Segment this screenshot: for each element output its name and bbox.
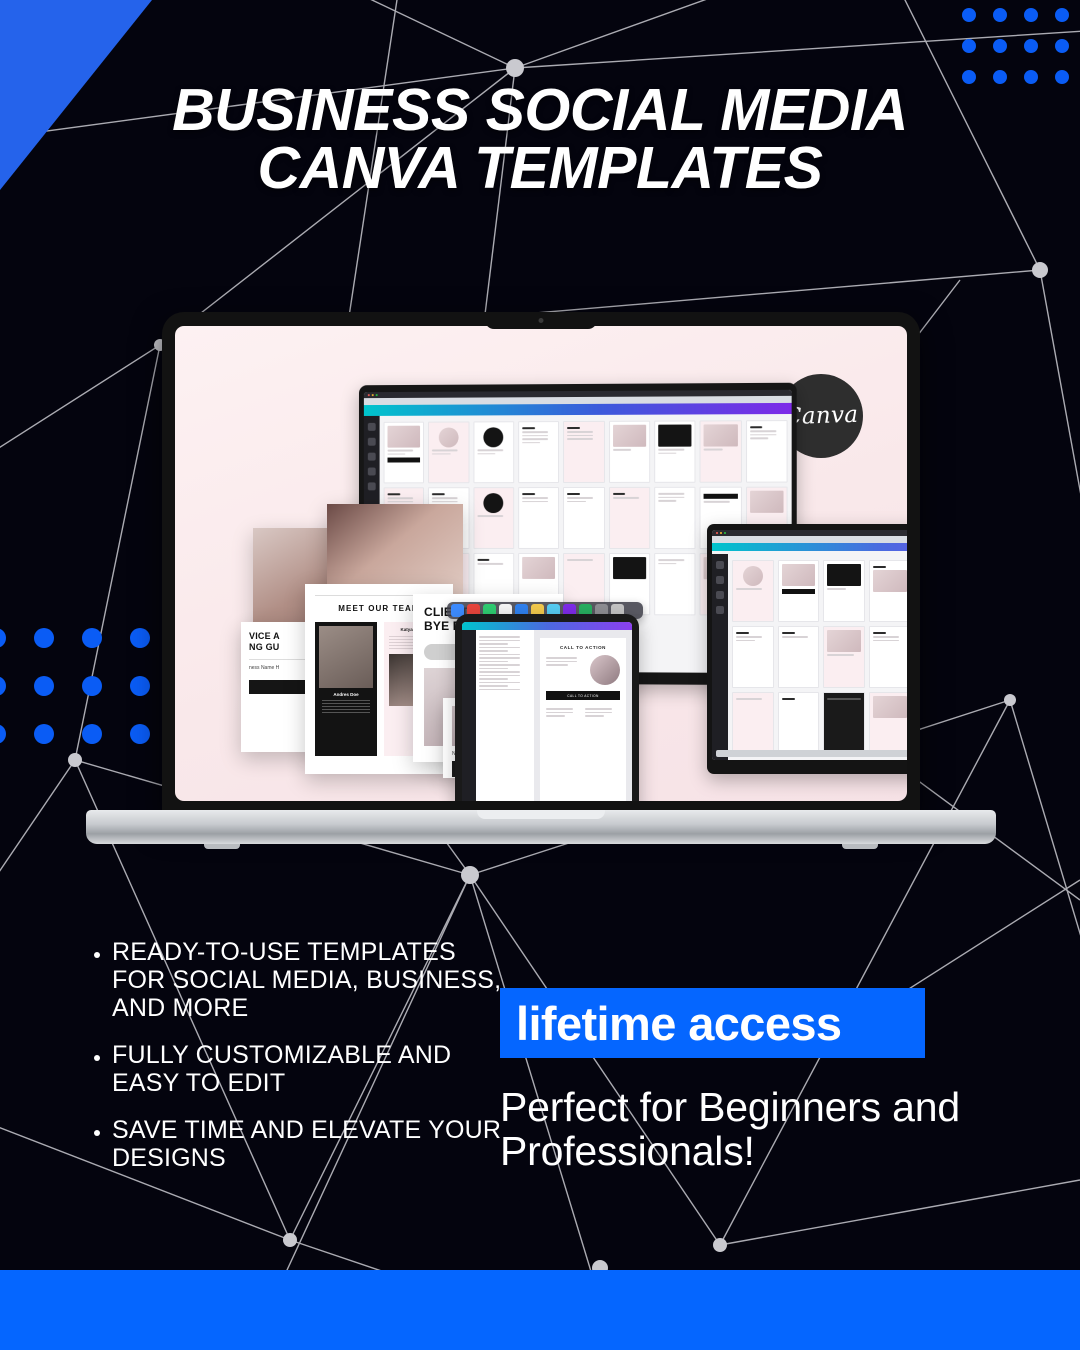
laptop-trim <box>716 750 907 757</box>
template-card <box>609 487 650 549</box>
team-member-primary: Andres Doe <box>315 622 377 756</box>
template-grid <box>730 556 907 760</box>
feature-list: READY-TO-USE TEMPLATES FOR SOCIAL MEDIA,… <box>82 938 502 1191</box>
tablet-page-button: CALL TO ACTION <box>567 694 598 698</box>
lifetime-access-chip: lifetime access <box>500 988 925 1058</box>
tablet-sidebar <box>462 630 476 801</box>
template-card <box>778 692 820 754</box>
canva-editor-viewport-secondary <box>712 530 907 760</box>
template-card <box>654 420 696 482</box>
template-card <box>732 626 774 688</box>
tablet-viewport: CALL TO ACTION CALL TO ACTION <box>462 622 632 801</box>
template-card <box>700 420 742 482</box>
promo-poster: BUSINESS SOCIAL MEDIA CANVA TEMPLATES Ca… <box>0 0 1080 1350</box>
template-card <box>654 487 696 549</box>
template-row <box>732 692 907 754</box>
template-card <box>609 421 650 483</box>
canva-toolbar <box>364 403 792 416</box>
tablet-page-heading: CALL TO ACTION <box>546 645 620 650</box>
laptop-screen: Canva <box>175 326 907 801</box>
laptop-lid: Canva <box>162 312 920 817</box>
browser-tabbar <box>712 536 907 543</box>
page-title: BUSINESS SOCIAL MEDIA CANVA TEMPLATES <box>0 82 1080 198</box>
template-card <box>563 421 604 483</box>
template-card <box>869 626 907 688</box>
bottom-accent-band <box>0 1270 1080 1350</box>
template-card <box>384 422 425 484</box>
lifetime-access-label: lifetime access <box>516 996 841 1051</box>
template-card <box>473 421 514 483</box>
canva-sidebar <box>712 554 728 760</box>
laptop-foot <box>204 844 240 849</box>
template-card <box>563 487 604 549</box>
template-card <box>746 420 788 483</box>
headline-line-2: CANVA TEMPLATES <box>60 140 1020 198</box>
template-card <box>869 692 907 754</box>
team-member-name: Andres Doe <box>319 692 373 697</box>
team-member-photo <box>319 626 373 688</box>
template-card <box>732 560 774 622</box>
canva-toolbar <box>712 543 907 551</box>
webcam-icon <box>539 318 544 323</box>
canva-editor-tablet: CALL TO ACTION CALL TO ACTION <box>455 614 639 801</box>
tablet-font-list <box>476 630 534 801</box>
template-row <box>732 626 907 688</box>
tablet-canvas: CALL TO ACTION CALL TO ACTION <box>534 630 632 801</box>
template-row <box>732 560 907 622</box>
laptop-foot <box>842 844 878 849</box>
template-card <box>428 421 469 483</box>
template-card <box>518 421 559 483</box>
template-card <box>778 560 820 622</box>
list-item: FULLY CUSTOMIZABLE AND EASY TO EDIT <box>112 1041 502 1097</box>
headline-line-1: BUSINESS SOCIAL MEDIA <box>60 82 1020 140</box>
template-card <box>869 560 907 622</box>
template-card <box>823 692 865 754</box>
list-item: READY-TO-USE TEMPLATES FOR SOCIAL MEDIA,… <box>112 938 502 1022</box>
cta-subtitle: Perfect for Beginners and Professionals! <box>500 1086 970 1174</box>
template-card <box>654 553 696 615</box>
template-card <box>823 560 865 622</box>
template-row <box>384 420 788 483</box>
template-card <box>732 692 774 754</box>
template-card <box>823 626 865 688</box>
canva-toolbar <box>462 622 632 630</box>
template-card <box>473 487 514 549</box>
template-card <box>778 626 820 688</box>
laptop-mockup: Canva <box>86 312 996 857</box>
canva-editor-laptop-secondary <box>707 524 907 774</box>
laptop-base <box>86 810 996 844</box>
template-card <box>518 487 559 549</box>
list-item: SAVE TIME AND ELEVATE YOUR DESIGNS <box>112 1116 502 1172</box>
